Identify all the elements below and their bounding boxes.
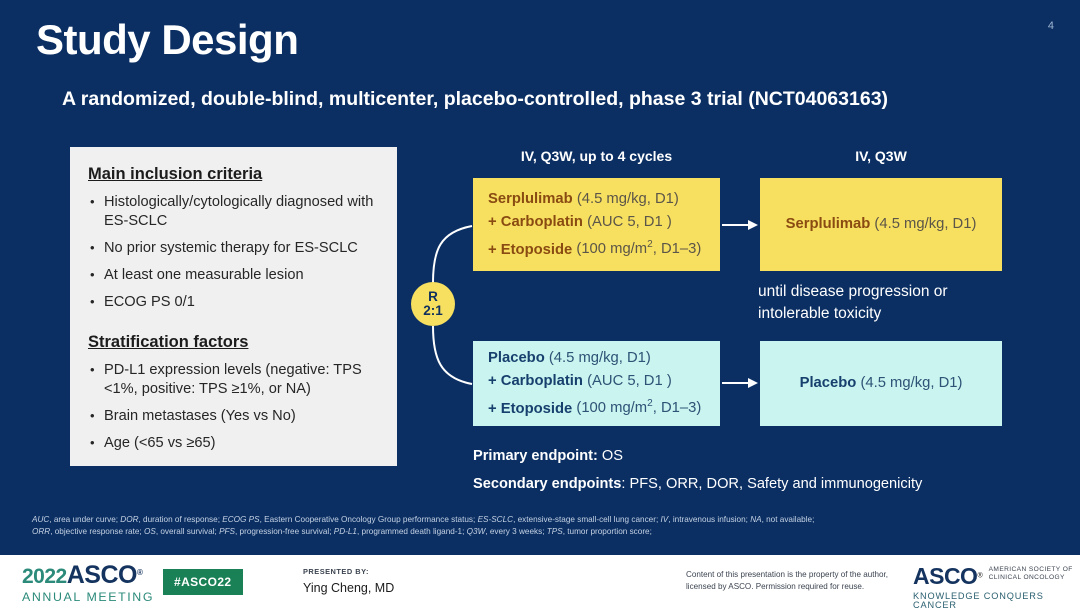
randomization-ratio: 2:1 [423, 304, 443, 318]
regimen-line: Serplulimab (4.5 mg/kg, D1) [786, 213, 977, 236]
primary-endpoint-value: OS [598, 448, 623, 464]
presenter-name: Ying Cheng, MD [303, 580, 394, 597]
list-item: At least one measurable lesion [86, 266, 381, 285]
secondary-endpoint-label: Secondary endpoints [473, 476, 621, 492]
drug-dose: (4.5 mg/kg, D1) [870, 216, 976, 232]
registered-mark-icon: ® [977, 573, 982, 580]
randomization-node: R 2:1 [411, 282, 455, 326]
induction-phase-header: IV, Q3W, up to 4 cycles [473, 148, 720, 164]
asco-annual-meeting-logo: 2022ASCO® ANNUAL MEETING [22, 563, 154, 603]
drug-dose: (4.5 mg/kg, D1) [856, 375, 962, 391]
drug-name: + Carboplatin [488, 373, 583, 389]
list-item: Age (<65 vs ≥65) [86, 434, 381, 453]
logo-subtitle: ANNUAL MEETING [22, 591, 154, 603]
list-item: PD-L1 expression levels (negative: TPS <… [86, 361, 381, 399]
regimen-line: + Carboplatin (AUC 5, D1 ) [488, 370, 720, 393]
drug-dose: (100 mg/m2, D1–3) [572, 241, 701, 257]
abbreviations-footnote: AUC, area under curve; DOR, duration of … [32, 514, 1042, 537]
treatment-duration-note: until disease progression or intolerable… [758, 281, 1008, 325]
slide-footer: 2022ASCO® ANNUAL MEETING #ASCO22 PRESENT… [0, 553, 1080, 608]
randomization-letter: R [428, 290, 438, 304]
primary-endpoint: Primary endpoint: OS [473, 448, 623, 464]
regimen-line: + Carboplatin (AUC 5, D1 ) [488, 211, 720, 234]
primary-endpoint-label: Primary endpoint: [473, 448, 598, 464]
criteria-panel: Main inclusion criteria Histologically/c… [70, 147, 397, 466]
drug-name: Placebo [800, 375, 857, 391]
secondary-endpoint-value: : PFS, ORR, DOR, Safety and immunogenici… [621, 476, 922, 492]
stratification-factors-list: PD-L1 expression levels (negative: TPS <… [86, 361, 381, 453]
inclusion-criteria-list: Histologically/cytologically diagnosed w… [86, 193, 381, 312]
regimen-line: Serplulimab (4.5 mg/kg, D1) [488, 188, 720, 211]
society-name-line-1: AMERICAN SOCIETY OF [989, 566, 1073, 573]
maintenance-phase-header: IV, Q3W [760, 148, 1002, 164]
asco-society-logo: ASCO®AMERICAN SOCIETY OFCLINICAL ONCOLOG… [913, 565, 1080, 608]
page-subtitle: A randomized, double-blind, multicenter,… [62, 88, 888, 111]
drug-name: + Carboplatin [488, 214, 583, 230]
list-item: Brain metastases (Yes vs No) [86, 407, 381, 426]
slide-number: 4 [1048, 20, 1054, 32]
logo-year: 2022 [22, 565, 67, 588]
permission-notice: Content of this presentation is the prop… [686, 569, 896, 592]
logo-brand: ASCO [67, 561, 137, 589]
drug-dose: (4.5 mg/kg, D1) [545, 350, 651, 366]
registered-mark-icon: ® [137, 568, 142, 577]
drug-name: + Etoposide [488, 241, 572, 257]
drug-name: Serplulimab [786, 216, 871, 232]
footnote-line: AUC, area under curve; DOR, duration of … [32, 514, 1042, 526]
list-item: No prior systemic therapy for ES-SCLC [86, 239, 381, 258]
list-item: ECOG PS 0/1 [86, 293, 381, 312]
drug-name: Placebo [488, 350, 545, 366]
drug-dose: (AUC 5, D1 ) [583, 373, 672, 389]
society-brand: ASCO [913, 563, 977, 589]
maintenance-control-arm-box: Placebo (4.5 mg/kg, D1) [760, 341, 1002, 426]
drug-name: Serplulimab [488, 191, 573, 207]
list-item: Histologically/cytologically diagnosed w… [86, 193, 381, 231]
stratification-factors-heading: Stratification factors [88, 333, 381, 352]
regimen-line: Placebo (4.5 mg/kg, D1) [488, 347, 720, 370]
presenter-block: PRESENTED BY: Ying Cheng, MD [303, 567, 394, 597]
society-full-name: AMERICAN SOCIETY OFCLINICAL ONCOLOGY [989, 566, 1073, 583]
logo-top-row: 2022ASCO® [22, 563, 154, 588]
footnote-line: ORR, objective response rate; OS, overal… [32, 526, 1042, 538]
drug-dose: (4.5 mg/kg, D1) [573, 191, 679, 207]
society-logo-top-row: ASCO®AMERICAN SOCIETY OFCLINICAL ONCOLOG… [913, 565, 1080, 588]
regimen-line: Placebo (4.5 mg/kg, D1) [800, 372, 963, 395]
maintenance-experimental-arm-box: Serplulimab (4.5 mg/kg, D1) [760, 178, 1002, 271]
slide-canvas: 4 Study Design A randomized, double-blin… [0, 0, 1080, 608]
hashtag-badge: #ASCO22 [163, 569, 243, 595]
inclusion-criteria-heading: Main inclusion criteria [88, 165, 381, 184]
regimen-line: + Etoposide (100 mg/m2, D1–3) [488, 234, 720, 262]
regimen-line: + Etoposide (100 mg/m2, D1–3) [488, 393, 720, 421]
drug-name: + Etoposide [488, 400, 572, 416]
drug-dose: (AUC 5, D1 ) [583, 214, 672, 230]
induction-control-arm-box: Placebo (4.5 mg/kg, D1) + Carboplatin (A… [473, 341, 720, 426]
society-name-line-2: CLINICAL ONCOLOGY [989, 574, 1065, 581]
presented-by-label: PRESENTED BY: [303, 567, 394, 577]
induction-experimental-arm-box: Serplulimab (4.5 mg/kg, D1) + Carboplati… [473, 178, 720, 271]
society-tagline: KNOWLEDGE CONQUERS CANCER [913, 592, 1080, 608]
secondary-endpoint: Secondary endpoints: PFS, ORR, DOR, Safe… [473, 476, 922, 492]
page-title: Study Design [36, 16, 298, 64]
drug-dose: (100 mg/m2, D1–3) [572, 400, 701, 416]
